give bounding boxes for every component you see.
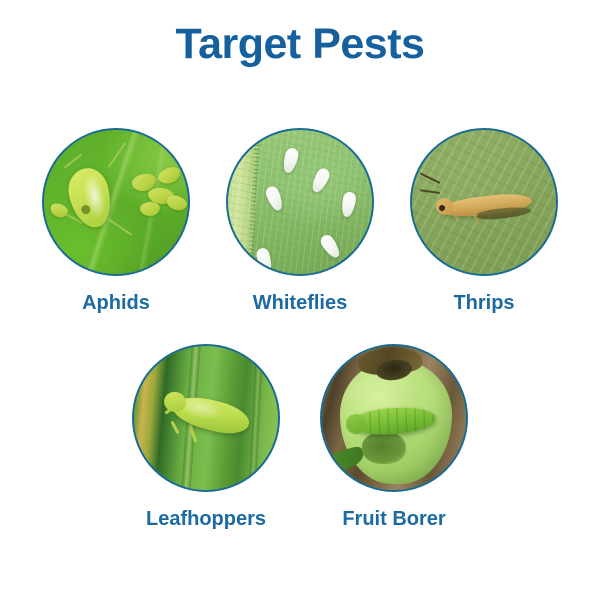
whiteflies-scene xyxy=(228,130,372,274)
pest-card-leafhoppers[interactable]: Leafhoppers xyxy=(132,344,280,531)
pest-card-whiteflies[interactable]: Whiteflies xyxy=(226,128,374,315)
thrips-photo[interactable] xyxy=(410,128,558,276)
target-pests-page: Target Pests xyxy=(0,0,600,600)
aphids-photo[interactable] xyxy=(42,128,190,276)
larva-head xyxy=(346,414,366,434)
leafhoppers-photo[interactable] xyxy=(132,344,280,492)
pest-card-fruit-borer[interactable]: Fruit Borer xyxy=(320,344,468,531)
aphids-scene xyxy=(44,130,188,274)
pest-row-top: Aphids Whiteflies xyxy=(0,128,600,315)
pest-label-aphids: Aphids xyxy=(82,291,150,315)
pest-card-aphids[interactable]: Aphids xyxy=(42,128,190,315)
fruit-borer-scene xyxy=(322,346,466,490)
pest-label-thrips: Thrips xyxy=(453,291,514,315)
leafhoppers-scene xyxy=(134,346,278,490)
feeding-damage xyxy=(362,432,406,464)
fruit-borer-photo[interactable] xyxy=(320,344,468,492)
pest-label-fruit-borer: Fruit Borer xyxy=(342,507,445,531)
page-title: Target Pests xyxy=(0,18,600,70)
pest-card-thrips[interactable]: Thrips xyxy=(410,128,558,315)
thrips-eye xyxy=(439,205,445,211)
pest-row-bottom: Leafhoppers Fruit Borer xyxy=(0,344,600,531)
thrips-scene xyxy=(412,130,556,274)
whiteflies-photo[interactable] xyxy=(226,128,374,276)
pest-label-whiteflies: Whiteflies xyxy=(253,291,347,315)
pest-label-leafhoppers: Leafhoppers xyxy=(146,507,266,531)
